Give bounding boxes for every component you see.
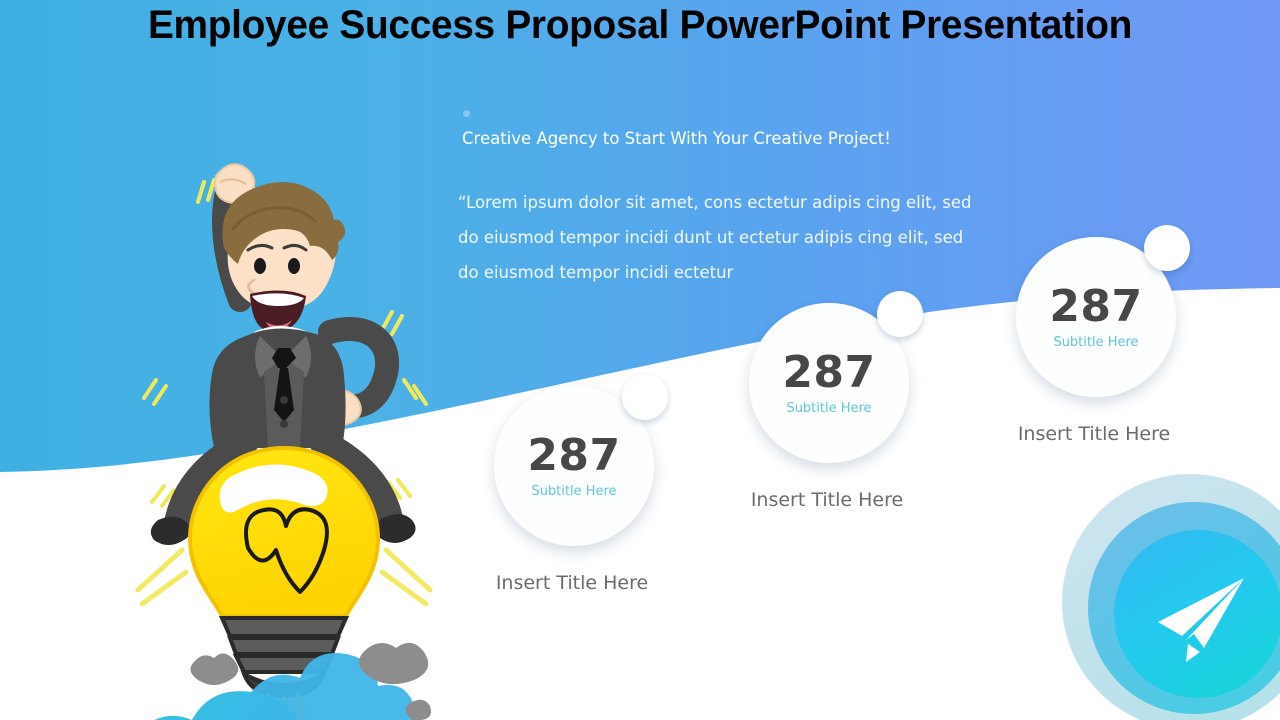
character-eye-left — [254, 258, 266, 274]
stat-ring-2: 287 Subtitle Here — [749, 303, 909, 463]
stat-subtitle: Subtitle Here — [1053, 335, 1138, 350]
stat-number: 287 — [782, 350, 875, 396]
copy-lead-text: Creative Agency to Start With Your Creat… — [462, 129, 891, 148]
page-title: Employee Success Proposal PowerPoint Pre… — [19, 2, 1261, 48]
stat-caption: Insert Title Here — [747, 489, 907, 511]
stat-card-2[interactable]: 287 Subtitle Here Insert Title Here — [749, 303, 909, 511]
businessman-lightbulb-rocket-illustration — [120, 80, 500, 720]
stat-accent-dot-icon — [877, 291, 923, 337]
stat-number: 287 — [1049, 284, 1142, 330]
stat-number: 287 — [527, 433, 620, 479]
stat-card-3[interactable]: 287 Subtitle Here Insert Title Here — [1016, 237, 1176, 445]
stat-subtitle: Subtitle Here — [531, 484, 616, 499]
stat-ring-3: 287 Subtitle Here — [1016, 237, 1176, 397]
stat-accent-dot-icon — [622, 374, 668, 420]
stat-card-1[interactable]: 287 Subtitle Here Insert Title Here — [494, 386, 654, 594]
stat-caption: Insert Title Here — [492, 572, 652, 594]
stat-ring-1: 287 Subtitle Here — [494, 386, 654, 546]
character-eye-right — [288, 258, 300, 274]
stat-caption: Insert Title Here — [1014, 423, 1174, 445]
stat-accent-dot-icon — [1144, 225, 1190, 271]
paper-plane-badge[interactable] — [1054, 452, 1280, 720]
stat-subtitle: Subtitle Here — [786, 401, 871, 416]
presentation-slide: Employee Success Proposal PowerPoint Pre… — [0, 0, 1280, 720]
copy-paragraph: “Lorem ipsum dolor sit amet, cons ectetu… — [458, 185, 988, 290]
